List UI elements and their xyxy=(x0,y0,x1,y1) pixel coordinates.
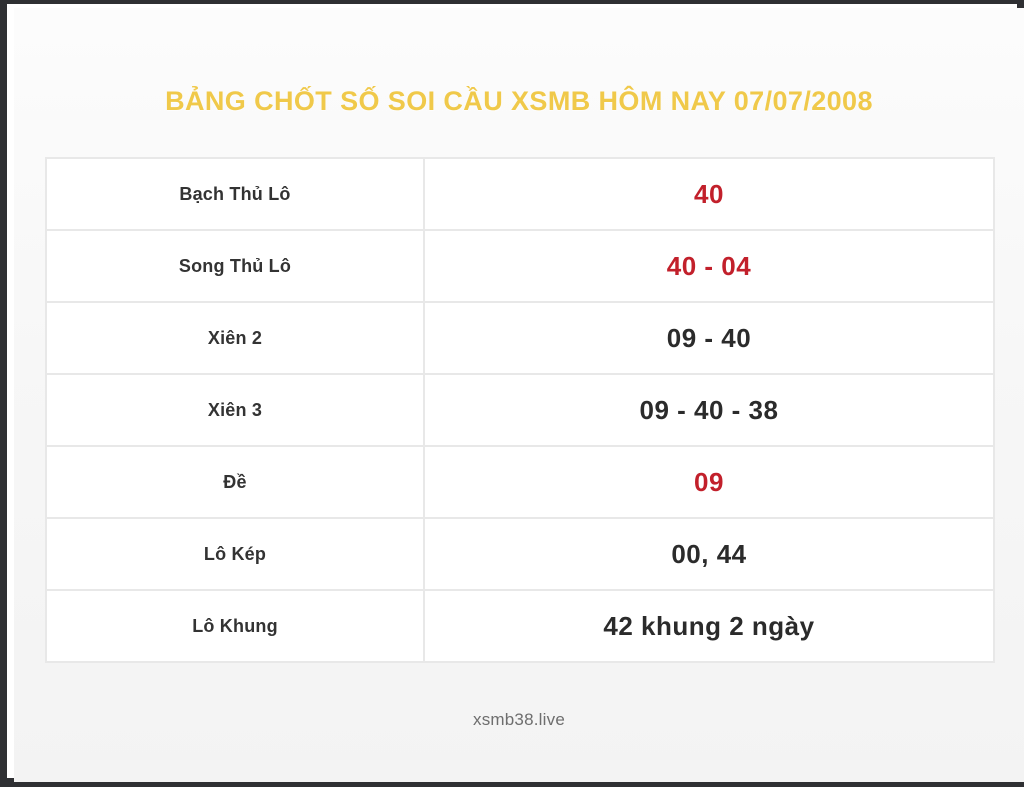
row-value: 40 - 04 xyxy=(424,230,994,302)
screenshot-frame: BẢNG CHỐT SỐ SOI CẦU XSMB HÔM NAY 07/07/… xyxy=(0,0,1024,787)
row-label: Bạch Thủ Lô xyxy=(46,158,424,230)
row-label: Đề xyxy=(46,446,424,518)
table-row: Bạch Thủ Lô 40 xyxy=(46,158,994,230)
row-value: 09 - 40 xyxy=(424,302,994,374)
row-label: Xiên 2 xyxy=(46,302,424,374)
row-label: Xiên 3 xyxy=(46,374,424,446)
row-value: 42 khung 2 ngày xyxy=(424,590,994,662)
page-title: BẢNG CHỐT SỐ SOI CẦU XSMB HÔM NAY 07/07/… xyxy=(14,86,1024,117)
prediction-table-body: Bạch Thủ Lô 40 Song Thủ Lô 40 - 04 Xiên … xyxy=(46,158,994,662)
table-row: Lô Kép 00, 44 xyxy=(46,518,994,590)
table-row: Song Thủ Lô 40 - 04 xyxy=(46,230,994,302)
site-watermark: xsmb38.live xyxy=(14,710,1024,730)
prediction-table: Bạch Thủ Lô 40 Song Thủ Lô 40 - 04 Xiên … xyxy=(45,157,995,663)
table-row: Đề 09 xyxy=(46,446,994,518)
row-label: Lô Khung xyxy=(46,590,424,662)
row-label: Lô Kép xyxy=(46,518,424,590)
row-label: Song Thủ Lô xyxy=(46,230,424,302)
row-value: 09 - 40 - 38 xyxy=(424,374,994,446)
row-value: 00, 44 xyxy=(424,518,994,590)
table-row: Lô Khung 42 khung 2 ngày xyxy=(46,590,994,662)
table-row: Xiên 2 09 - 40 xyxy=(46,302,994,374)
row-value: 40 xyxy=(424,158,994,230)
prediction-table-wrapper: Bạch Thủ Lô 40 Song Thủ Lô 40 - 04 Xiên … xyxy=(45,157,993,663)
table-row: Xiên 3 09 - 40 - 38 xyxy=(46,374,994,446)
page-background: BẢNG CHỐT SỐ SOI CẦU XSMB HÔM NAY 07/07/… xyxy=(14,8,1024,782)
row-value: 09 xyxy=(424,446,994,518)
soi-cau-card: BẢNG CHỐT SỐ SOI CẦU XSMB HÔM NAY 07/07/… xyxy=(14,8,1024,782)
